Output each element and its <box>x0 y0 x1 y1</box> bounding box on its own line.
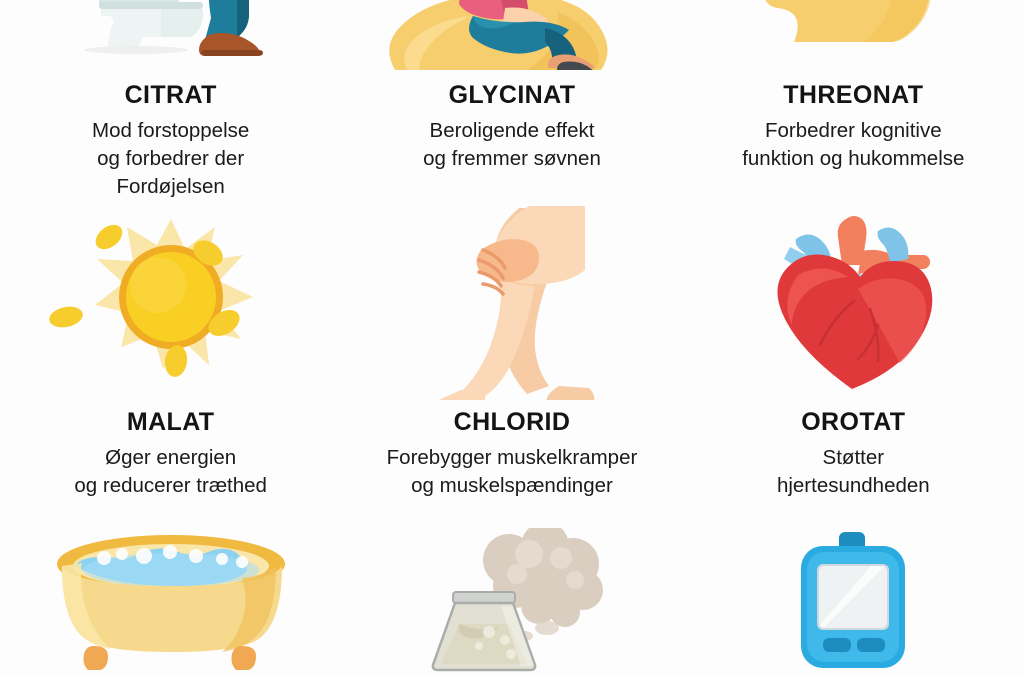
card-chlorid: CHLORID Forebygger muskelkramper og musk… <box>341 200 682 525</box>
card-glucose-meter <box>683 525 1024 675</box>
card-threonat: THREONAT Forbedrer kognitive funktion og… <box>683 0 1024 200</box>
bathtub-icon <box>0 525 341 675</box>
card-description: Forbedrer kognitive funktion og hukommel… <box>736 117 970 173</box>
card-citrat: CITRAT Mod forstoppelse og forbedrer der… <box>0 0 341 200</box>
card-description: Mod forstoppelse og forbedrer der Fordøj… <box>86 117 255 200</box>
magnesium-infographic: CITRAT Mod forstoppelse og forbedrer der… <box>0 0 1024 675</box>
card-powder-jar <box>341 525 682 675</box>
head-profile-icon <box>683 0 1024 70</box>
card-description: Beroligende effekt og fremmer søvnen <box>417 117 607 173</box>
card-title: OROTAT <box>801 410 905 435</box>
card-title: CHLORID <box>454 410 571 435</box>
card-title: GLYCINAT <box>449 83 576 108</box>
person-relaxing-beanbag-icon <box>341 0 682 70</box>
card-title: CITRAT <box>125 83 217 108</box>
card-malat: MALAT Øger energien og reducerer træthed <box>0 200 341 525</box>
powder-jar-smoke-icon <box>341 525 682 675</box>
toilet-with-person-icon <box>0 0 341 70</box>
card-glycinat: GLYCINAT Beroligende effekt og fremmer s… <box>341 0 682 200</box>
infographic-grid: CITRAT Mod forstoppelse og forbedrer der… <box>0 0 1024 675</box>
card-title: MALAT <box>127 410 215 435</box>
card-description: Forebygger muskelkramper og muskelspændi… <box>381 444 644 500</box>
card-orotat: OROTAT Støtter hjertesundheden <box>683 200 1024 525</box>
card-description: Øger energien og reducerer træthed <box>68 444 273 500</box>
glucose-meter-icon <box>683 525 1024 675</box>
card-description: Støtter hjertesundheden <box>771 444 936 500</box>
card-title: THREONAT <box>783 83 923 108</box>
card-bathtub <box>0 525 341 675</box>
sun-icon <box>0 200 341 400</box>
anatomical-heart-icon <box>683 200 1024 400</box>
legs-cramp-icon <box>341 200 682 400</box>
